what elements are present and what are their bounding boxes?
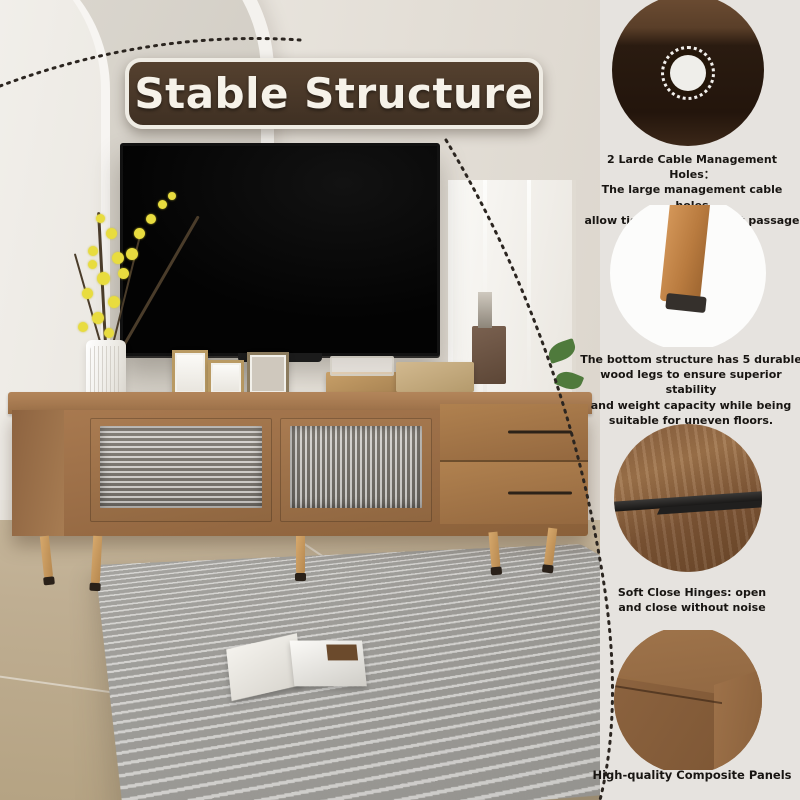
detail-panel-wood-legs [600, 205, 800, 347]
detail-panel-composite-panels [600, 630, 800, 770]
detail-caption-wood-legs: The bottom structure has 5 durable wood … [580, 352, 800, 428]
detail-panel-cable-holes [600, 0, 800, 150]
fluted-glass-door-left[interactable] [90, 418, 272, 522]
leg-foot-cap [665, 293, 706, 313]
drawer-bottom[interactable] [440, 462, 588, 524]
wooden-storage-tray [396, 362, 474, 392]
detail-caption-hinges: Soft Close Hinges: open and close withou… [584, 585, 800, 615]
decor-mirror-object [472, 326, 506, 384]
wood-leg-shape [660, 205, 713, 305]
title-banner: Stable Structure [125, 58, 543, 129]
stand-left-side-panel [12, 410, 64, 536]
cable-hole-ring [661, 46, 715, 100]
page-title: Stable Structure [134, 69, 533, 118]
drawer-stack [440, 404, 588, 524]
detail-caption-composite-panels: High-quality Composite Panels [584, 768, 800, 784]
picture-frame [208, 360, 244, 396]
wood-leg-photo [610, 205, 766, 347]
picture-frame [247, 352, 289, 396]
drawer-top[interactable] [440, 404, 588, 462]
fluted-glass-door-right[interactable] [280, 418, 432, 522]
picture-frame [172, 350, 208, 396]
wall-mounted-tv [120, 143, 440, 356]
detail-panel-hinges [600, 420, 800, 572]
stand-leg [488, 532, 500, 569]
stand-leg [296, 536, 305, 574]
product-infographic: Stable Structure 2 Larde Cable Managemen… [0, 0, 800, 800]
tv-stand [8, 392, 592, 552]
hinge-photo [614, 424, 762, 572]
clear-storage-box [330, 356, 394, 376]
cabinet-corner-photo [614, 630, 762, 770]
hinge-bar [614, 490, 762, 512]
cable-hole-photo [612, 0, 764, 146]
